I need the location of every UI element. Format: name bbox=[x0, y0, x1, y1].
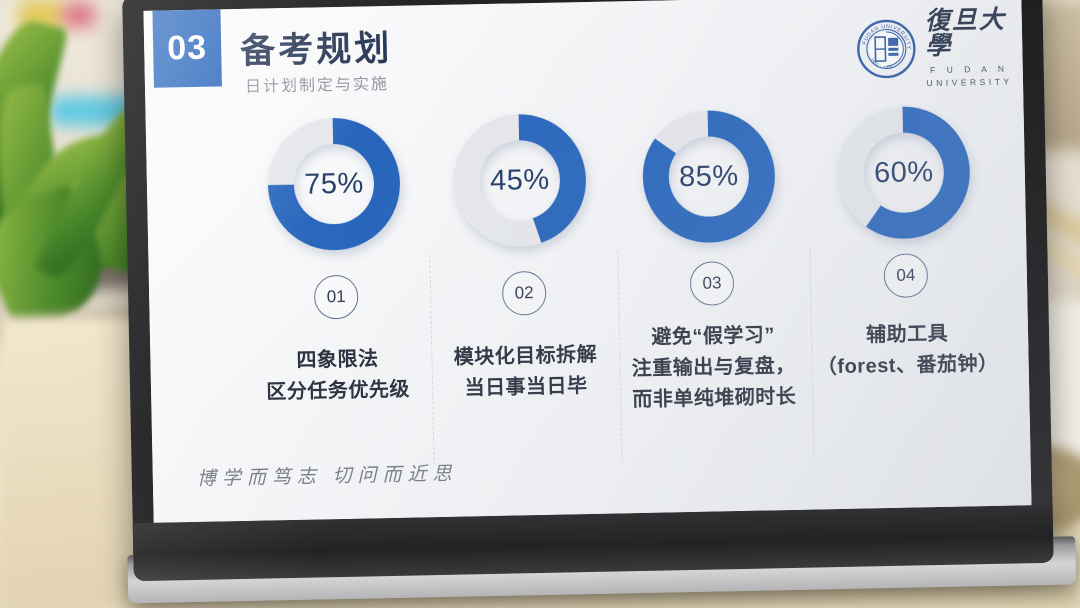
photo-scene: 03 备考规划 日计划制定与实施 bbox=[0, 0, 1080, 608]
bezel-sheen bbox=[122, 0, 1054, 581]
background-object-pink bbox=[62, 2, 96, 28]
laptop: 03 备考规划 日计划制定与实施 bbox=[122, 0, 1056, 591]
